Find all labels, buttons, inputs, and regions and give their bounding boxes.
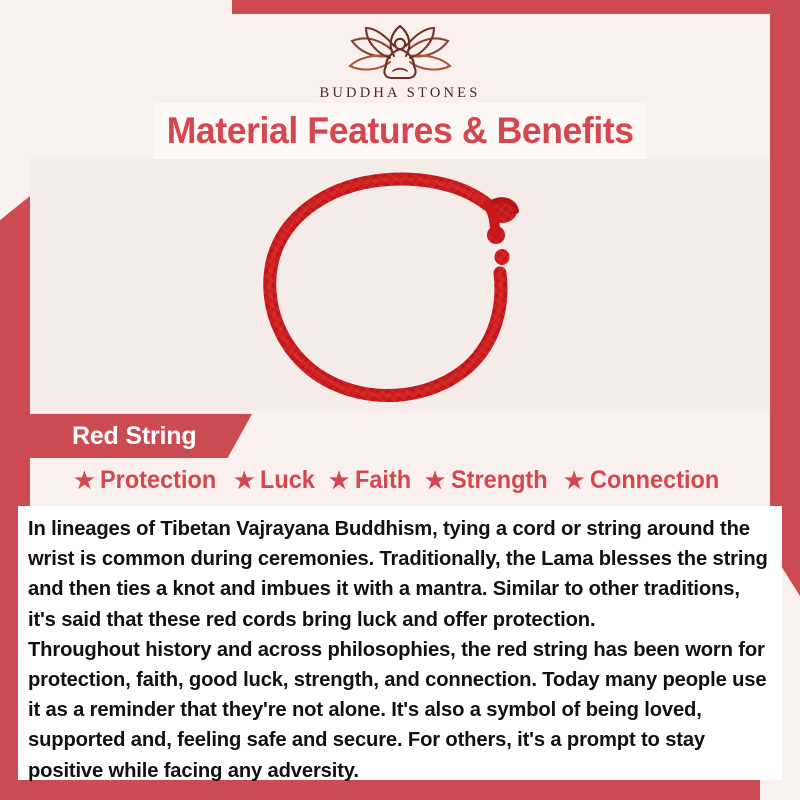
feature-label: Connection xyxy=(590,466,719,495)
feature-item-connection: ★ Connection xyxy=(562,466,727,495)
feature-label: Luck xyxy=(260,466,315,495)
product-tag-banner: Red String xyxy=(30,414,252,458)
lotus-meditation-icon xyxy=(330,16,470,82)
feature-item-luck: ★ Luck xyxy=(233,466,319,495)
title-banner: Material Features & Benefits xyxy=(154,103,646,159)
feature-label: Faith xyxy=(355,466,411,495)
feature-label: Strength xyxy=(451,466,548,495)
poster-canvas: BUDDHA STONES Material Features & Benefi… xyxy=(0,0,800,800)
feature-item-protection: ★ Protection xyxy=(73,466,224,495)
description-paragraph-2: Throughout history and across philosophi… xyxy=(28,635,772,786)
star-icon: ★ xyxy=(233,467,256,493)
description-paragraph-1: In lineages of Tibetan Vajrayana Buddhis… xyxy=(28,514,772,635)
frame-top-bar xyxy=(232,0,800,14)
product-tag-label: Red String xyxy=(30,422,196,451)
description-block: In lineages of Tibetan Vajrayana Buddhis… xyxy=(18,506,782,780)
red-string-bracelet-image xyxy=(256,165,556,411)
star-icon: ★ xyxy=(327,467,350,493)
star-icon: ★ xyxy=(562,467,585,493)
star-icon: ★ xyxy=(423,467,446,493)
brand-name: BUDDHA STONES xyxy=(0,85,800,102)
page-title: Material Features & Benefits xyxy=(167,110,634,152)
star-icon: ★ xyxy=(73,467,96,493)
feature-item-faith: ★ Faith xyxy=(327,466,414,495)
features-row: ★ Protection ★ Luck ★ Faith ★ Strength ★… xyxy=(0,466,800,495)
feature-label: Protection xyxy=(100,466,216,495)
feature-item-strength: ★ Strength xyxy=(423,466,553,495)
product-image-area xyxy=(30,159,770,411)
brand-logo: BUDDHA STONES xyxy=(0,16,800,102)
